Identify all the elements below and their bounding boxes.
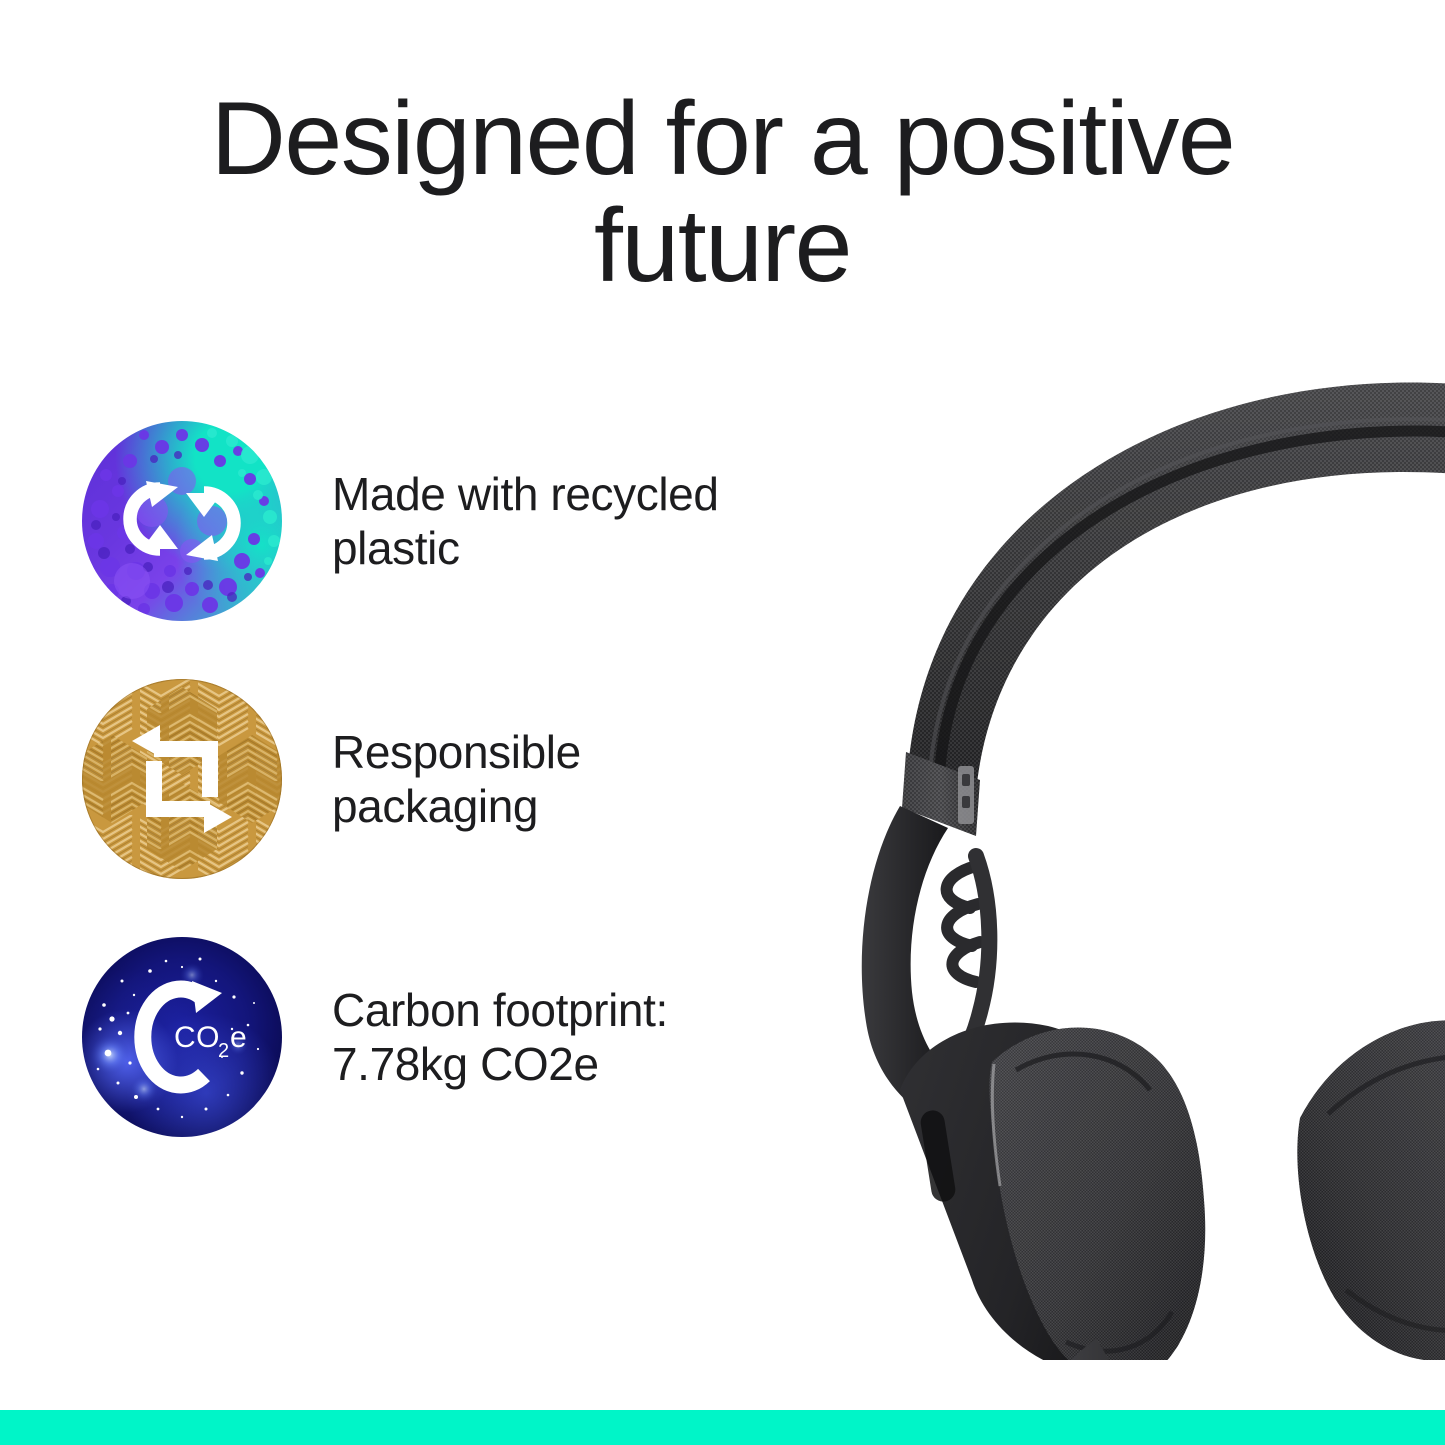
headband-fabric-texture (908, 383, 1445, 792)
carbon-c-glyph: CO 2 e (82, 937, 282, 1137)
feature-row-recycled-plastic: Made with recycled plastic (82, 418, 842, 624)
feature-label-recycled-plastic: Made with recycled plastic (332, 467, 719, 576)
co2e-tail-text: e (230, 1021, 247, 1054)
headset-illustration (780, 300, 1445, 1360)
marketing-panel: Designed for a positive future (0, 0, 1445, 1445)
hinge-coil (947, 866, 980, 982)
feature-row-carbon-footprint: CO 2 e Carbon footprint: 7.78kg CO2e (82, 934, 842, 1140)
responsible-packaging-icon (82, 679, 282, 879)
co2e-main-text: CO (174, 1021, 220, 1054)
carbon-footprint-icon: CO 2 e (82, 937, 282, 1137)
recycle-loop-glyph (82, 421, 282, 621)
slider-notch-upper (962, 774, 970, 786)
feature-label-carbon-footprint: Carbon footprint: 7.78kg CO2e (332, 983, 668, 1092)
slider-notch-lower (962, 796, 970, 808)
packaging-repeat-arrows-glyph (82, 679, 282, 879)
co2e-subscript-text: 2 (218, 1040, 229, 1062)
feature-row-responsible-packaging: Responsible packaging (82, 676, 842, 882)
feature-label-responsible-packaging: Responsible packaging (332, 725, 581, 834)
brand-accent-bar (0, 1410, 1445, 1445)
sustainability-feature-list: Made with recycled plastic (82, 418, 842, 1192)
headset-photo (780, 300, 1445, 1360)
page-title: Designed for a positive future (0, 86, 1445, 300)
recycled-plastic-icon (82, 421, 282, 621)
